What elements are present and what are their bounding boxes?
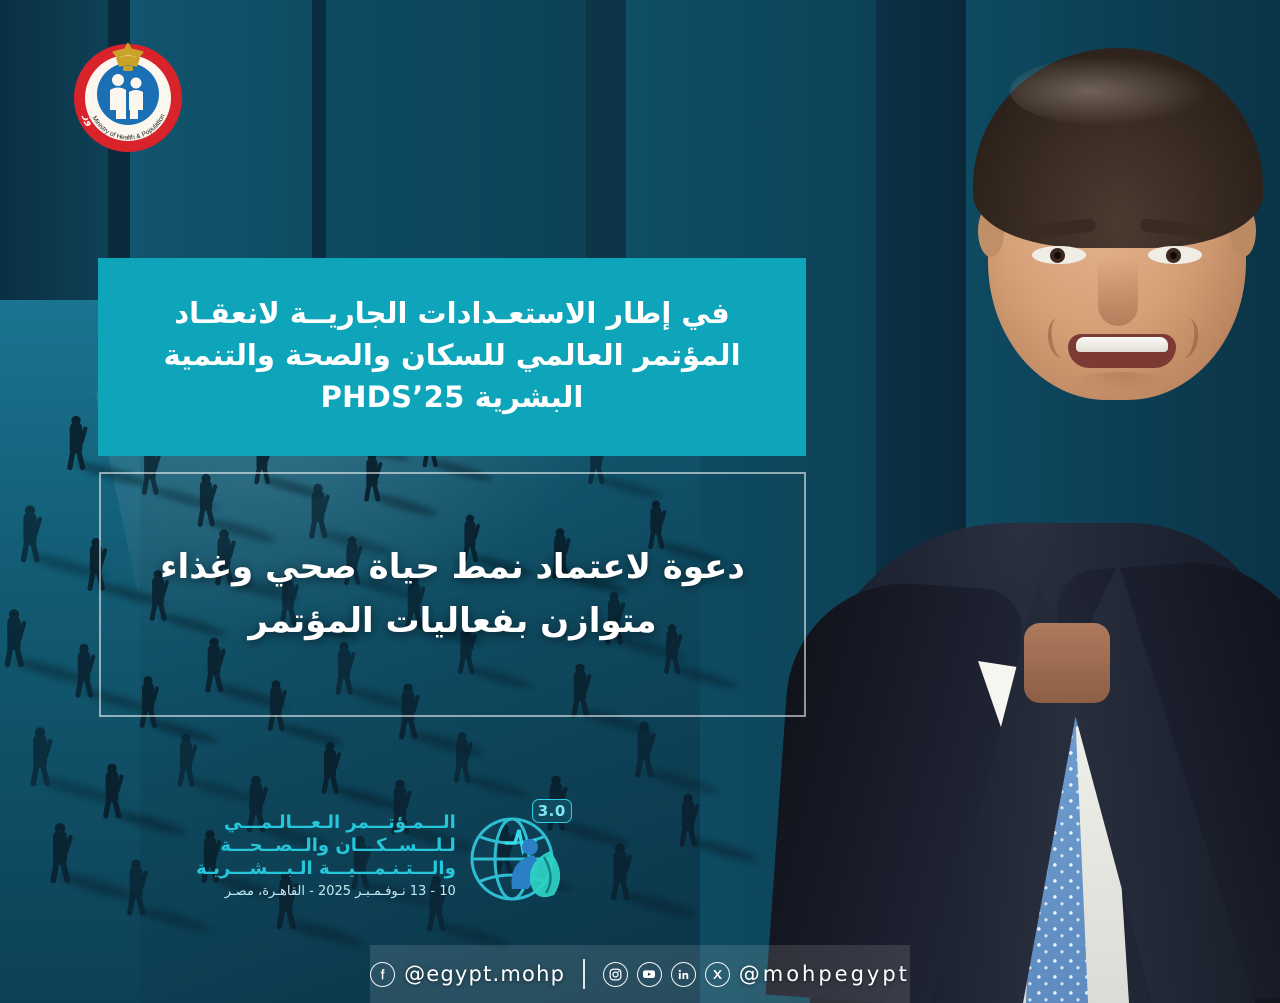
nose xyxy=(1098,258,1138,326)
ministry-logo: Ministry of Health & Population وزارة ال… xyxy=(68,36,188,156)
chin xyxy=(1072,372,1172,394)
teeth xyxy=(1076,337,1168,352)
subhead-line-1: دعوة لاعتماد نمط حياة صحي وغذاء xyxy=(160,545,745,591)
conference-title-line-3: والـــتـنـمـــيـــة الـبـــشـــريـة xyxy=(196,859,456,879)
headline-line-2: المؤتمر العالمي للسكان والصحة والتنمية xyxy=(163,336,740,374)
conference-title-line-1: الـــمـؤتـــمر الـعـــالـمـــي xyxy=(224,813,456,833)
conference-title-line-2: لـلـــســكـــان والــصــحـــة xyxy=(220,836,455,856)
headline-line-3: البشرية PHDS’25 xyxy=(321,378,584,416)
social-handles-group[interactable]: @mohpegypt xyxy=(603,962,910,987)
headline-box: في إطار الاستعـدادات الجاريــة لانعقـاد … xyxy=(98,258,806,456)
headline-line-1: في إطار الاستعـدادات الجاريــة لانعقـاد xyxy=(174,294,729,332)
conference-logo: الـــمـؤتـــمر الـعـــالـمـــي لـلـــســ… xyxy=(196,800,596,912)
iris-left xyxy=(1050,248,1065,263)
facebook-handle[interactable]: @egypt.mohp xyxy=(404,962,565,986)
facebook-link[interactable]: @egypt.mohp xyxy=(370,962,565,987)
mouth xyxy=(1068,334,1176,368)
conference-date-location: 10 - 13 نـوفـمـبـر 2025 - القاهـرة، مصـر xyxy=(225,884,456,899)
youtube-icon[interactable] xyxy=(637,962,662,987)
neck xyxy=(1024,623,1110,703)
instagram-icon[interactable] xyxy=(603,962,628,987)
subhead-line-2: متوازن بفعاليات المؤتمر xyxy=(248,599,656,645)
facebook-icon[interactable] xyxy=(370,962,395,987)
linkedin-icon[interactable] xyxy=(671,962,696,987)
conference-logo-text: الـــمـؤتـــمر الـعـــالـمـــي لـلـــســ… xyxy=(196,813,456,898)
hair-highlight xyxy=(1010,56,1210,126)
subhead-box: دعوة لاعتماد نمط حياة صحي وغذاء متوازن ب… xyxy=(99,472,806,717)
iris-right xyxy=(1166,248,1181,263)
version-badge: 3.0 xyxy=(532,799,572,823)
conference-emblem: 3.0 xyxy=(466,803,570,909)
x-twitter-icon[interactable] xyxy=(705,962,730,987)
shared-social-handle[interactable]: @mohpegypt xyxy=(739,962,910,986)
eye-left xyxy=(1032,246,1086,264)
eye-right xyxy=(1148,246,1202,264)
social-footer: @egypt.mohp xyxy=(0,945,1280,1003)
poster-canvas: Ministry of Health & Population وزارة ال… xyxy=(0,0,1280,1003)
minister-portrait xyxy=(810,0,1280,1003)
